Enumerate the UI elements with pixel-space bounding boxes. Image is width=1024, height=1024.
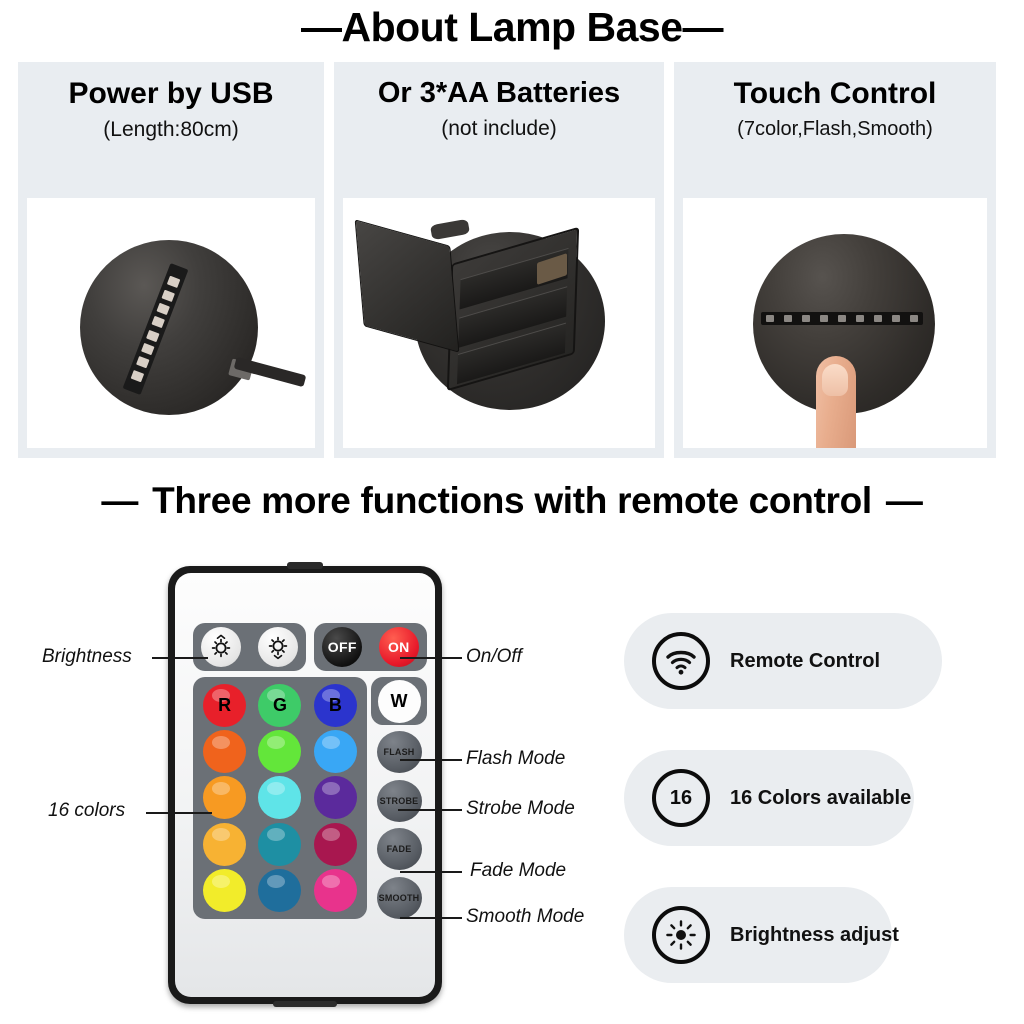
brightness-down-icon bbox=[265, 634, 291, 660]
ir-emitter bbox=[287, 562, 323, 569]
sixteen-icon: 16 bbox=[652, 769, 710, 827]
section-title-text: Three more functions with remote control bbox=[152, 480, 872, 521]
led-strip bbox=[761, 312, 923, 325]
panel-title: Power by USB bbox=[68, 76, 273, 111]
color-button-label: R bbox=[203, 684, 246, 727]
off-button[interactable]: OFF bbox=[322, 627, 362, 667]
section-dash-right: — bbox=[886, 480, 923, 522]
color-button-b[interactable]: B bbox=[314, 684, 357, 727]
color-button-teal[interactable] bbox=[258, 823, 301, 866]
feature-card-list: Remote Control 16 16 Colors available bbox=[624, 613, 942, 983]
title-text: About Lamp Base bbox=[341, 4, 682, 50]
wifi-icon bbox=[652, 632, 710, 690]
color-button-w[interactable]: W bbox=[378, 680, 421, 723]
panel-subtitle: (not include) bbox=[441, 117, 557, 141]
color-button-bright-green[interactable] bbox=[258, 730, 301, 773]
battery-lid bbox=[355, 219, 460, 352]
battery-compartment-photo bbox=[343, 198, 655, 448]
callout-strobe-mode: Strobe Mode bbox=[466, 798, 575, 820]
color-button-r[interactable]: R bbox=[203, 684, 246, 727]
color-button-sky-blue[interactable] bbox=[314, 730, 357, 773]
title-dash-right: — bbox=[683, 4, 724, 51]
mode-button-label: FADE bbox=[387, 844, 412, 854]
feature-card-brightness-adjust[interactable]: Brightness adjust bbox=[624, 887, 892, 983]
color-button-purple[interactable] bbox=[314, 776, 357, 819]
panel-title: Or 3*AA Batteries bbox=[378, 76, 620, 110]
feature-panels: Power by USB (Length:80cm) Or 3*AA Batte… bbox=[18, 62, 1006, 458]
page-title: —About Lamp Base— bbox=[0, 4, 1024, 51]
mode-button-label: SMOOTH bbox=[379, 893, 420, 903]
color-button-g[interactable]: G bbox=[258, 684, 301, 727]
brightness-icon-glyph bbox=[664, 918, 698, 952]
color-button-steel-blue[interactable] bbox=[258, 869, 301, 912]
color-button-yellow[interactable] bbox=[203, 869, 246, 912]
mode-button-label: STROBE bbox=[380, 796, 419, 806]
on-button-label: ON bbox=[388, 639, 410, 655]
on-button[interactable]: ON bbox=[379, 627, 419, 667]
color-button-pad: R G B bbox=[193, 677, 367, 919]
callout-on-off: On/Off bbox=[466, 646, 522, 668]
color-button-amber[interactable] bbox=[203, 823, 246, 866]
wifi-icon-glyph bbox=[664, 646, 698, 676]
callout-lead-brightness bbox=[152, 657, 208, 659]
callout-brightness: Brightness bbox=[42, 646, 132, 668]
remote-control[interactable]: OFF ON R G B bbox=[168, 566, 442, 1004]
brightness-up-icon bbox=[208, 634, 234, 660]
callout-lead-strobe bbox=[398, 809, 462, 811]
feature-card-16-colors[interactable]: 16 16 Colors available bbox=[624, 750, 914, 846]
feature-label: 16 Colors available bbox=[730, 787, 911, 810]
brightness-icon bbox=[652, 906, 710, 964]
usb-powered-lamp-base-photo bbox=[27, 198, 315, 448]
callout-lead-16-colors bbox=[146, 812, 212, 814]
panel-subtitle: (Length:80cm) bbox=[103, 118, 238, 142]
brightness-button-pad bbox=[193, 623, 306, 671]
off-button-label: OFF bbox=[328, 639, 357, 655]
remote-bottom-notch bbox=[273, 1001, 337, 1007]
mode-button-label: FLASH bbox=[384, 747, 415, 757]
callout-fade-mode: Fade Mode bbox=[470, 860, 566, 882]
callout-flash-mode: Flash Mode bbox=[466, 748, 565, 770]
feature-card-remote-control[interactable]: Remote Control bbox=[624, 613, 942, 709]
brightness-up-button[interactable] bbox=[201, 627, 241, 667]
panel-title: Touch Control bbox=[734, 76, 937, 111]
callout-lead-smooth bbox=[400, 917, 462, 919]
touch-control-base-photo bbox=[683, 198, 987, 448]
white-button-pad: W bbox=[371, 677, 427, 725]
color-button-label: G bbox=[258, 684, 301, 727]
feature-label: Brightness adjust bbox=[730, 924, 899, 947]
color-button-label: W bbox=[378, 680, 421, 723]
callout-16-colors: 16 colors bbox=[48, 800, 125, 822]
color-button-label: B bbox=[314, 684, 357, 727]
color-button-orange-red[interactable] bbox=[203, 730, 246, 773]
callout-smooth-mode: Smooth Mode bbox=[466, 906, 584, 928]
smooth-mode-button[interactable]: SMOOTH bbox=[377, 877, 422, 919]
title-dash-left: — bbox=[301, 4, 342, 51]
section-dash-left: — bbox=[101, 480, 138, 522]
panel-touch-control: Touch Control (7color,Flash,Smooth) bbox=[674, 62, 996, 458]
brightness-down-button[interactable] bbox=[258, 627, 298, 667]
strobe-mode-button[interactable]: STROBE bbox=[377, 780, 422, 822]
panel-aa-batteries: Or 3*AA Batteries (not include) bbox=[334, 62, 664, 458]
color-button-cyan[interactable] bbox=[258, 776, 301, 819]
flash-mode-button[interactable]: FLASH bbox=[377, 731, 422, 773]
panel-power-by-usb: Power by USB (Length:80cm) bbox=[18, 62, 324, 458]
callout-lead-fade bbox=[400, 871, 462, 873]
sixteen-icon-label: 16 bbox=[670, 787, 692, 810]
color-button-pink[interactable] bbox=[314, 869, 357, 912]
page-root: —About Lamp Base— Power by USB (Length:8… bbox=[0, 0, 1024, 1024]
fade-mode-button[interactable]: FADE bbox=[377, 828, 422, 870]
callout-lead-flash bbox=[400, 759, 462, 761]
power-button-pad: OFF ON bbox=[314, 623, 427, 671]
remote-faceplate: OFF ON R G B bbox=[175, 573, 435, 997]
fingernail bbox=[822, 364, 848, 396]
callout-lead-on-off bbox=[400, 657, 462, 659]
feature-label: Remote Control bbox=[730, 650, 880, 673]
battery-lid-clip bbox=[430, 219, 470, 240]
panel-subtitle: (7color,Flash,Smooth) bbox=[737, 118, 933, 141]
color-button-magenta-red[interactable] bbox=[314, 823, 357, 866]
section-title: —Three more functions with remote contro… bbox=[0, 480, 1024, 522]
